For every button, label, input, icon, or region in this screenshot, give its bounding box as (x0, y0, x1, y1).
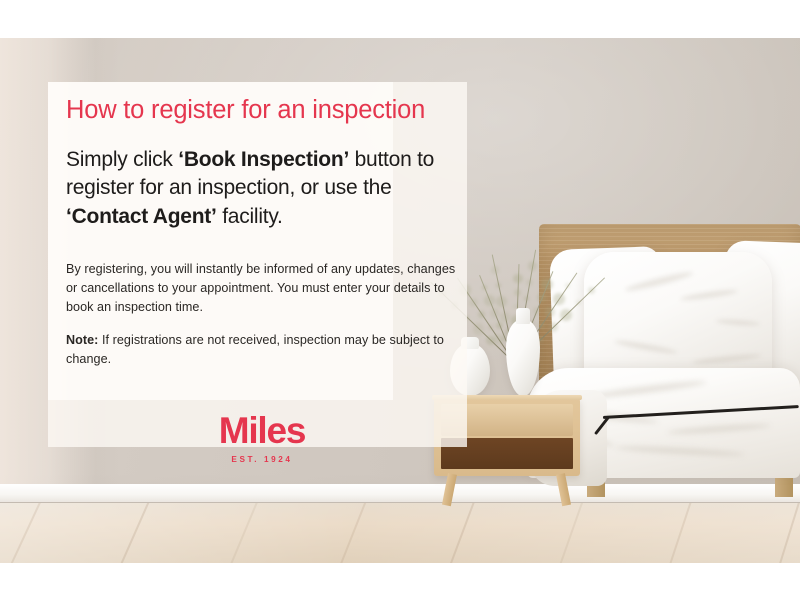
instruction-part-3: facility. (217, 205, 283, 228)
brand-logo: Miles EST. 1924 (66, 412, 458, 464)
letterbox-bottom (0, 563, 800, 600)
note-text: If registrations are not received, inspe… (66, 333, 444, 366)
details-block: By registering, you will instantly be in… (66, 260, 458, 368)
bedroom-scene: How to register for an inspection Simply… (0, 38, 800, 563)
page-title: How to register for an inspection (66, 96, 458, 124)
book-inspection-label: ‘Book Inspection’ (178, 148, 349, 171)
note-label: Note: (66, 333, 98, 347)
registration-paragraph: By registering, you will instantly be in… (66, 260, 458, 317)
note-paragraph: Note: If registrations are not received,… (66, 331, 458, 369)
logo-established-text: EST. 1924 (66, 456, 458, 464)
screenshot-canvas: How to register for an inspection Simply… (0, 0, 800, 600)
contact-agent-label: ‘Contact Agent’ (66, 205, 217, 228)
logo-wordmark: Miles (66, 412, 458, 449)
instruction-text: Simply click ‘Book Inspection’ button to… (66, 146, 458, 231)
letterbox-top (0, 0, 800, 38)
wood-floor (0, 503, 800, 563)
instruction-part-1: Simply click (66, 148, 178, 171)
info-panel-content: How to register for an inspection Simply… (66, 96, 458, 369)
